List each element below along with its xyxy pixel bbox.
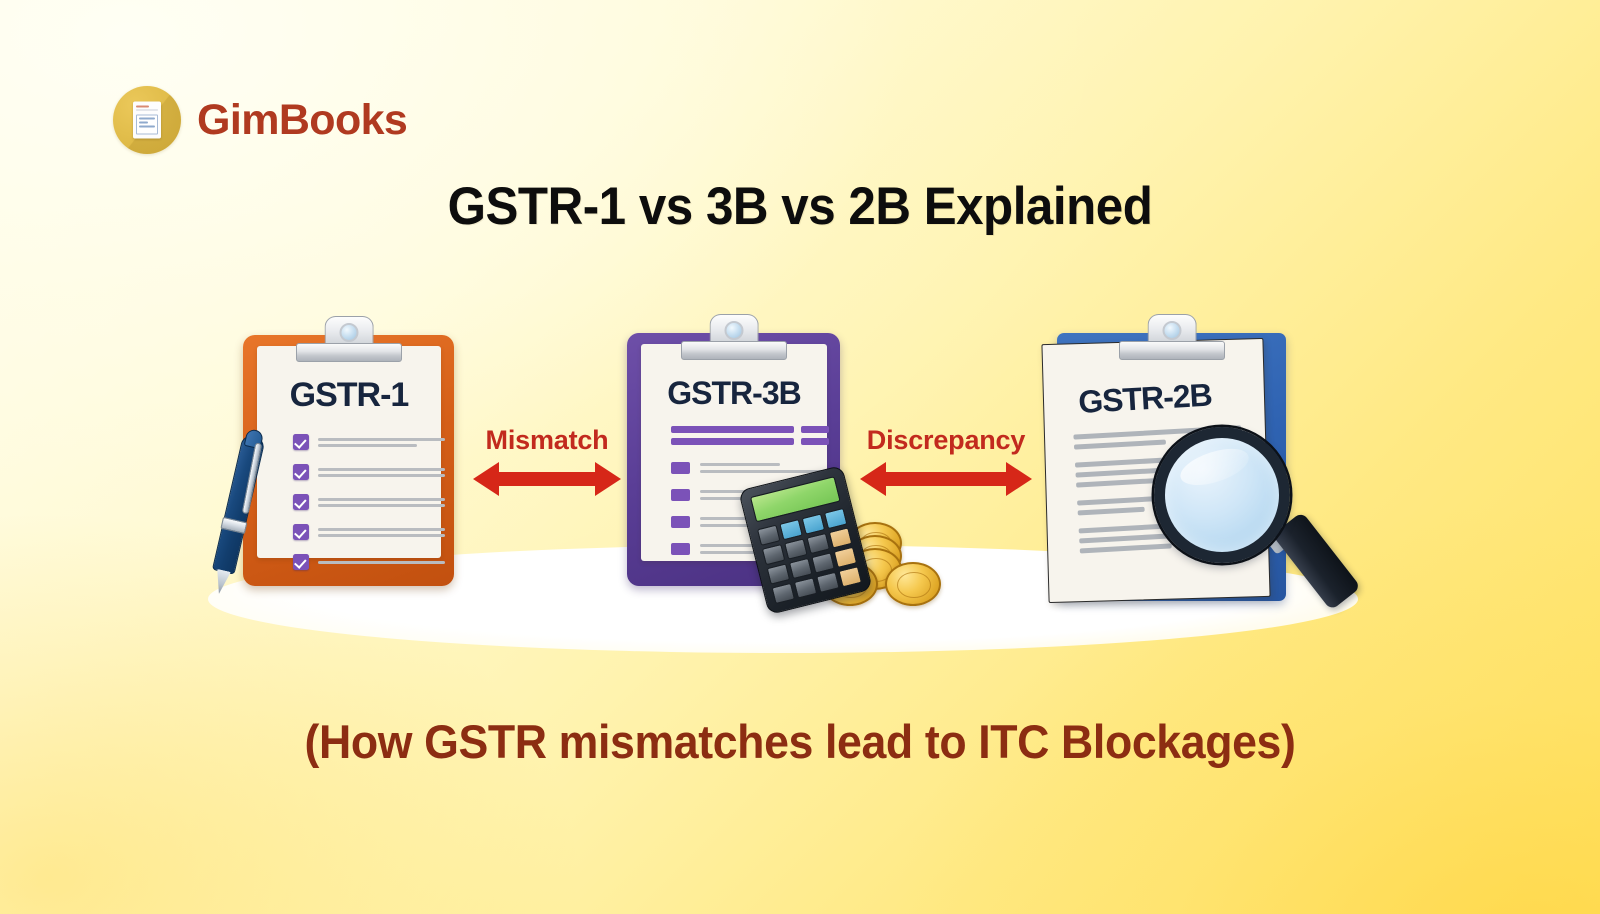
line-item-row	[671, 462, 829, 474]
brand-name: GimBooks	[197, 96, 407, 145]
connector-mismatch: Mismatch	[469, 425, 625, 505]
infographic-canvas: GimBooks GSTR-1 vs 3B vs 2B Explained (H…	[0, 0, 1600, 914]
checklist-row	[293, 554, 445, 570]
checkbox-checked-icon[interactable]	[293, 434, 309, 450]
checklist	[293, 434, 445, 570]
document-title: GSTR-3B	[641, 375, 827, 412]
checklist-row	[293, 464, 445, 480]
checklist-row	[293, 494, 445, 510]
checkbox-checked-icon[interactable]	[293, 464, 309, 480]
clipboard-clip-icon	[681, 314, 787, 360]
connector-label: Discrepancy	[867, 425, 1025, 456]
checklist-row	[293, 434, 445, 450]
double-arrow-icon	[856, 457, 1036, 501]
swatch-icon	[671, 462, 690, 474]
checkbox-checked-icon[interactable]	[293, 524, 309, 540]
document-icon	[133, 102, 161, 139]
page-title: GSTR-1 vs 3B vs 2B Explained	[56, 176, 1544, 237]
clipboard-clip-icon	[296, 316, 402, 362]
document-title: GSTR-1	[257, 376, 441, 415]
clipboard-clip-icon	[1119, 314, 1225, 360]
checklist-row	[293, 524, 445, 540]
checkbox-checked-icon[interactable]	[293, 494, 309, 510]
clipboard-paper: GSTR-1	[257, 346, 441, 558]
logo-circle-icon	[113, 86, 181, 154]
checkbox-checked-icon[interactable]	[293, 554, 309, 570]
document-title: GSTR-2B	[1033, 374, 1257, 423]
clipboard-gstr-1[interactable]: GSTR-1	[243, 335, 454, 586]
swatch-icon	[671, 489, 690, 501]
summary-bars	[671, 426, 829, 445]
connector-discrepancy: Discrepancy	[856, 425, 1036, 505]
page-subtitle: (How GSTR mismatches lead to ITC Blockag…	[40, 714, 1560, 769]
magnifying-glass-icon	[1142, 423, 1364, 628]
connector-label: Mismatch	[486, 425, 609, 456]
double-arrow-icon	[469, 457, 625, 501]
swatch-icon	[671, 543, 690, 555]
brand-logo[interactable]: GimBooks	[113, 86, 407, 154]
swatch-icon	[671, 516, 690, 528]
